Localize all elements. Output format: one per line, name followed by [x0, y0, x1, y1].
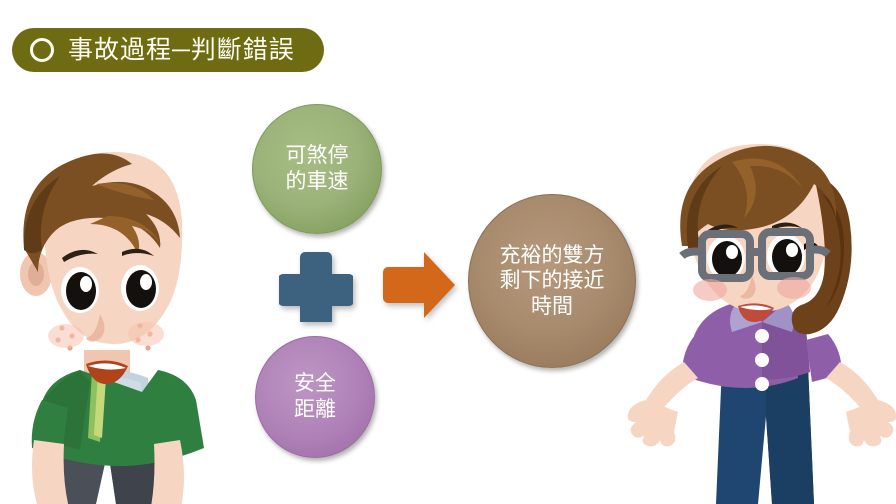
bubble-speed-line-2: 的車速 — [286, 169, 349, 195]
bubble-time-line-3: 時間 — [531, 294, 573, 320]
girl-illustration — [626, 110, 896, 504]
bubble-time-line-2: 剩下的接近 — [500, 268, 605, 294]
bubble-distance-line-2: 距離 — [294, 397, 336, 423]
bubble-speed: 可煞停 的車速 — [252, 104, 382, 234]
slide-title-bar: 事故過程─判斷錯誤 — [12, 28, 324, 72]
bubble-time-line-1: 充裕的雙方 — [500, 243, 605, 269]
slide-canvas: 事故過程─判斷錯誤 — [0, 0, 896, 504]
bubble-distance-line-1: 安全 — [294, 371, 336, 397]
right-arrow-icon — [379, 250, 457, 320]
page-title: 事故過程─判斷錯誤 — [68, 38, 295, 63]
plus-icon — [279, 248, 353, 322]
bubble-distance: 安全 距離 — [255, 336, 375, 458]
bubble-speed-line-1: 可煞停 — [286, 143, 349, 169]
boy-illustration — [0, 78, 236, 504]
bubble-time: 充裕的雙方 剩下的接近 時間 — [468, 194, 636, 368]
circle-outline-icon — [30, 38, 54, 62]
